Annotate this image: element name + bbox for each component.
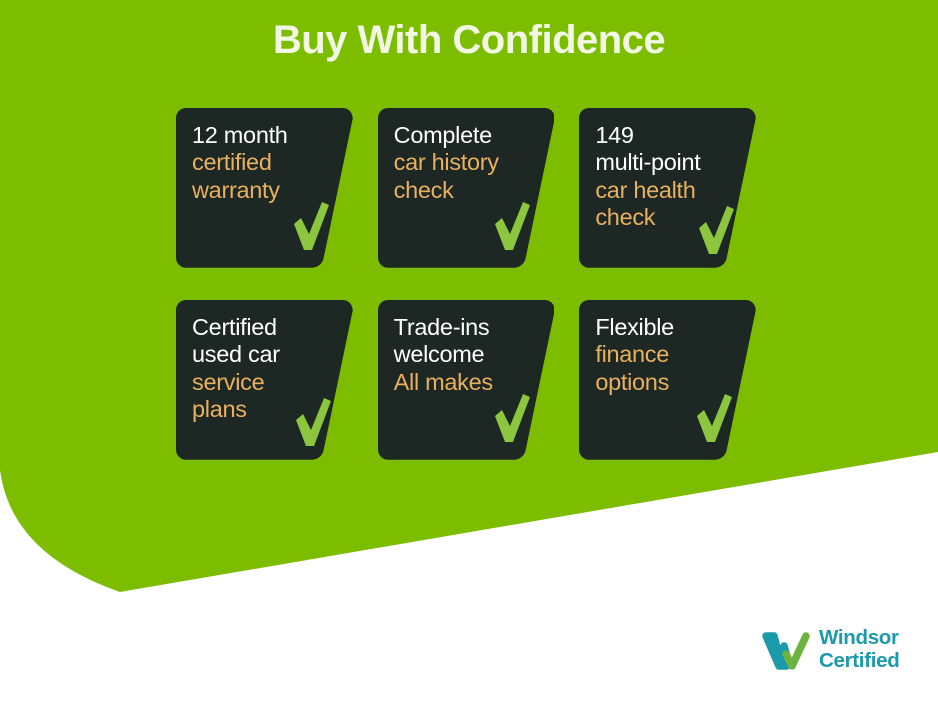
checkmark-icon [292,396,332,448]
benefit-card-trade-ins[interactable]: Trade-ins welcome All makes [378,300,555,460]
benefit-card-flexible-finance[interactable]: Flexible finance options [579,300,756,460]
card-text-block: 12 month certified warranty [192,122,319,204]
benefit-card-car-history-check[interactable]: Complete car history check [378,108,555,268]
card-text-block: Complete car history check [394,122,521,204]
card-text-block: Trade-ins welcome All makes [394,314,521,396]
brand-line-windsor: Windsor [819,627,899,650]
brand-wordmark: Windsor Certified [819,627,899,673]
card-line: multi-point [595,149,722,176]
page-title: Buy With Confidence [0,18,938,63]
card-line: car history [394,149,521,176]
checkmark-icon [491,200,531,252]
benefit-card-certified-warranty[interactable]: 12 month certified warranty [176,108,353,268]
card-line: service [192,369,319,396]
windsor-w-icon [762,626,810,674]
checkmark-icon [695,204,735,256]
card-row-1: 12 month certified warranty Complete car… [176,108,756,268]
card-text-block: Flexible finance options [595,314,722,396]
card-line: 149 [595,122,722,149]
card-line: Trade-ins [394,314,521,341]
checkmark-icon [491,392,531,444]
benefit-card-service-plans[interactable]: Certified used car service plans [176,300,353,460]
benefit-card-multi-point-check[interactable]: 149 multi-point car health check [579,108,756,268]
checkmark-icon [693,392,733,444]
card-line: car health [595,177,722,204]
card-line: certified [192,149,319,176]
card-line: 12 month [192,122,319,149]
benefits-card-grid: 12 month certified warranty Complete car… [176,108,756,460]
card-line: finance [595,341,722,368]
card-row-2: Certified used car service plans Trade-i… [176,300,756,460]
card-line: used car [192,341,319,368]
brand-logo: Windsor Certified [762,626,899,674]
checkmark-icon [290,200,330,252]
brand-line-certified: Certified [819,650,899,673]
card-line: welcome [394,341,521,368]
card-line: Complete [394,122,521,149]
card-line: Flexible [595,314,722,341]
card-line: Certified [192,314,319,341]
